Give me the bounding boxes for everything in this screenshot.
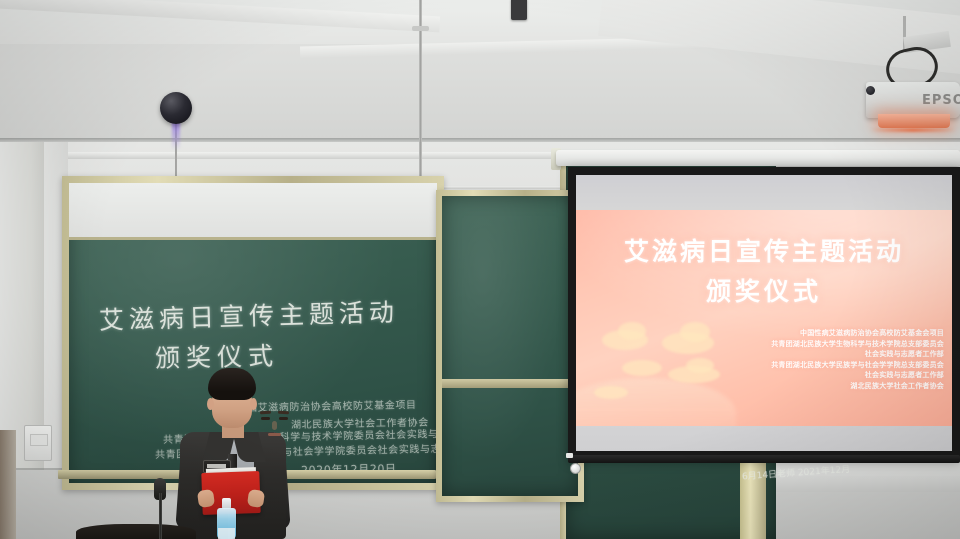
projector-lamp [878,114,950,128]
slide-credit-line: 共青团湖北民族大学生物科学与技术学院总支部委员会 [664,339,944,350]
projector-sensor-dot [866,86,875,95]
projector-icon: EPSON [866,82,960,128]
light-switch-plate[interactable] [24,425,52,461]
presenter-hair [208,368,256,400]
bottle-body [217,508,236,539]
presenter-hand-left [197,489,215,508]
slide-credit-line: 社会实践与志愿者工作部 [664,370,944,381]
presenter-ear-right [250,398,257,410]
ceiling-sphere-speaker-icon [160,92,192,124]
presenter-eyebrow-left [260,411,271,415]
screen-weight-bar-tip [566,453,573,458]
slide-credit-line: 共青团湖北民族大学民族学与社会学学院总支部委员会 [664,360,944,371]
presentation-slide: 艾滋病日宣传主题活动 颁奖仪式 中国性病艾滋病防治协会高校防艾基金会项目 共青团… [576,210,952,426]
presenter-eye-left [261,417,270,420]
slide-credits-block: 中国性病艾滋病防治协会高校防艾基金会项目 共青团湖北民族大学生物科学与技术学院总… [664,328,944,391]
left-whiteboard-strip [69,183,437,240]
slide-cloud [622,360,662,376]
ceiling-pole-cap [412,26,429,31]
projector-brand-label: EPSON [922,93,960,108]
presenter-ear-left [207,398,214,410]
screen-roller-housing[interactable] [556,150,960,166]
slide-cloud [594,386,628,399]
presenter-nose [272,421,277,430]
wall-corner-shadow [0,430,16,539]
slide-title: 艾滋病日宣传主题活动 [576,232,952,268]
screen-weight-bar[interactable] [568,455,960,463]
desk-front-edge [76,524,196,539]
slide-credit-line: 湖北民族大学社会工作者协会 [664,381,944,392]
ceiling [0,0,960,150]
presenter-eye-right [279,417,288,420]
projector-body: EPSON [866,82,960,118]
presenter-mouth [268,433,281,436]
projector-mount [874,44,948,86]
slide-credit-line: 社会实践与志愿者工作部 [664,349,944,360]
screen-pull-knob[interactable] [570,463,581,474]
sphere-speaker-glow [172,120,180,150]
middle-chalkboard-surface [442,196,578,496]
slide-cloud [618,322,646,340]
screen-top-margin [576,175,952,210]
microphone-stand [159,493,162,539]
slide-credit-line: 中国性病艾滋病防治协会高校防艾基金会项目 [664,328,944,339]
slide-subtitle: 颁奖仪式 [576,272,952,308]
middle-board-divider [442,379,578,388]
classroom-photo-scene: EPSON 6月14日老师 2021年12月 艾滋病日宣传主题活动 颁奖仪式 国… [0,0,960,539]
chalk-title-line-1: 艾滋病日宣传主题活动 [98,293,399,337]
presenter-eyebrow-right [278,411,289,415]
projection-screen-surface: 艾滋病日宣传主题活动 颁奖仪式 中国性病艾滋病防治协会高校防艾基金会项目 共青团… [576,175,952,451]
ceiling-vent-icon [511,0,527,20]
hand-sanitizer-bottle [217,498,236,539]
projector-lamp-glow [870,128,956,132]
screen-bottom-margin [576,426,952,451]
middle-chalkboard-frame [436,190,584,502]
bottle-label [218,528,235,539]
